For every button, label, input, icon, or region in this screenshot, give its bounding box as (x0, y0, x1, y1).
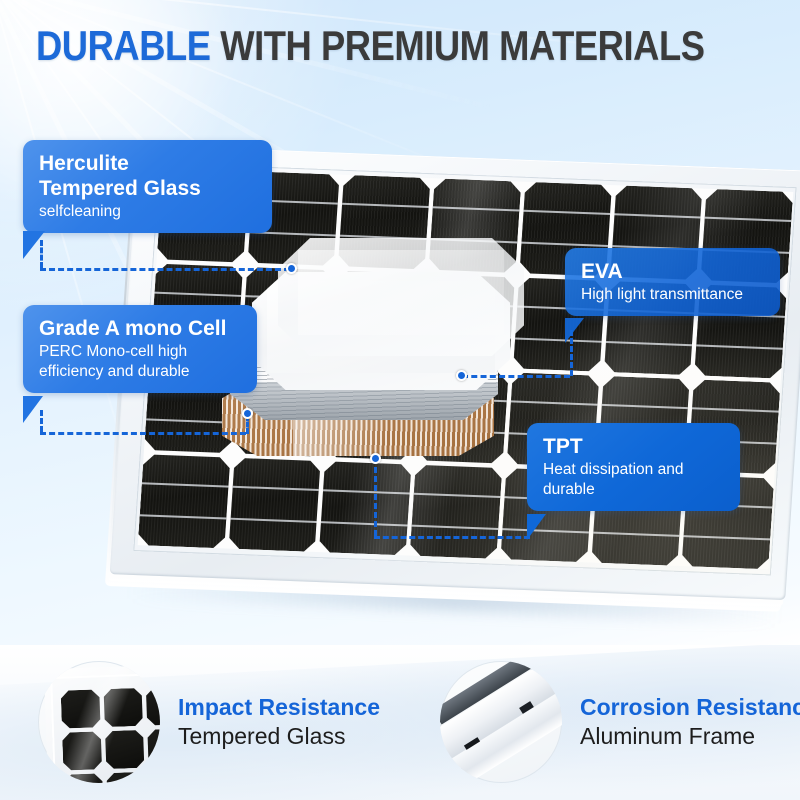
title-highlight: DURABLE (36, 22, 211, 69)
callout-sub-line2: durable (543, 480, 724, 499)
page-title: DURABLE WITH PREMIUM MATERIALS (36, 23, 676, 69)
callout-heading-line2: Tempered Glass (39, 176, 256, 201)
callout-sub: selfcleaning (39, 202, 256, 221)
aluminum-frame-thumbnail-icon (440, 661, 562, 783)
callout-sub-line1: PERC Mono-cell high (39, 342, 241, 361)
callout-heading-line1: Herculite (39, 151, 256, 176)
solar-cell (228, 457, 321, 552)
leader-dot-eva (456, 370, 467, 381)
callout-sub-line2: efficiency and durable (39, 362, 241, 381)
callout-herculite-tempered-glass[interactable]: Herculite Tempered Glass selfcleaning (23, 140, 272, 233)
feature-subtitle: Tempered Glass (178, 721, 380, 751)
feature-title: Corrosion Resistance (580, 693, 800, 721)
exploded-layer-stack (228, 238, 548, 468)
callout-grade-a-mono-cell[interactable]: Grade A mono Cell PERC Mono-cell high ef… (23, 305, 257, 393)
title-rest: WITH PREMIUM MATERIALS (220, 22, 704, 69)
leader-dot-cell (242, 408, 253, 419)
callout-sub-line1: Heat dissipation and (543, 460, 724, 479)
callout-heading: TPT (543, 434, 724, 459)
feature-subtitle: Aluminum Frame (580, 721, 800, 751)
solar-cell (410, 464, 503, 559)
feature-bar: Impact Resistance Tempered Glass Corrosi… (0, 645, 800, 800)
callout-heading: EVA (581, 259, 764, 284)
callout-heading: Grade A mono Cell (39, 316, 241, 341)
leader-dot-tpt (370, 453, 381, 464)
solar-cell (319, 461, 412, 556)
callout-tpt[interactable]: TPT Heat dissipation and durable (527, 423, 740, 511)
layer-tempered-glass (278, 238, 524, 356)
feature-text: Impact Resistance Tempered Glass (178, 693, 380, 751)
callout-eva[interactable]: EVA High light transmittance (565, 248, 780, 316)
callout-sub: High light transmittance (581, 285, 764, 304)
tempered-glass-thumbnail-icon (38, 661, 160, 783)
feature-title: Impact Resistance (178, 693, 380, 721)
feature-impact-resistance[interactable]: Impact Resistance Tempered Glass (38, 661, 380, 783)
solar-cell (138, 454, 231, 549)
feature-text: Corrosion Resistance Aluminum Frame (580, 693, 800, 751)
leader-dot-glass (286, 263, 297, 274)
feature-corrosion-resistance[interactable]: Corrosion Resistance Aluminum Frame (440, 661, 800, 783)
infographic-canvas: DURABLE WITH PREMIUM MATERIALS (0, 0, 800, 800)
